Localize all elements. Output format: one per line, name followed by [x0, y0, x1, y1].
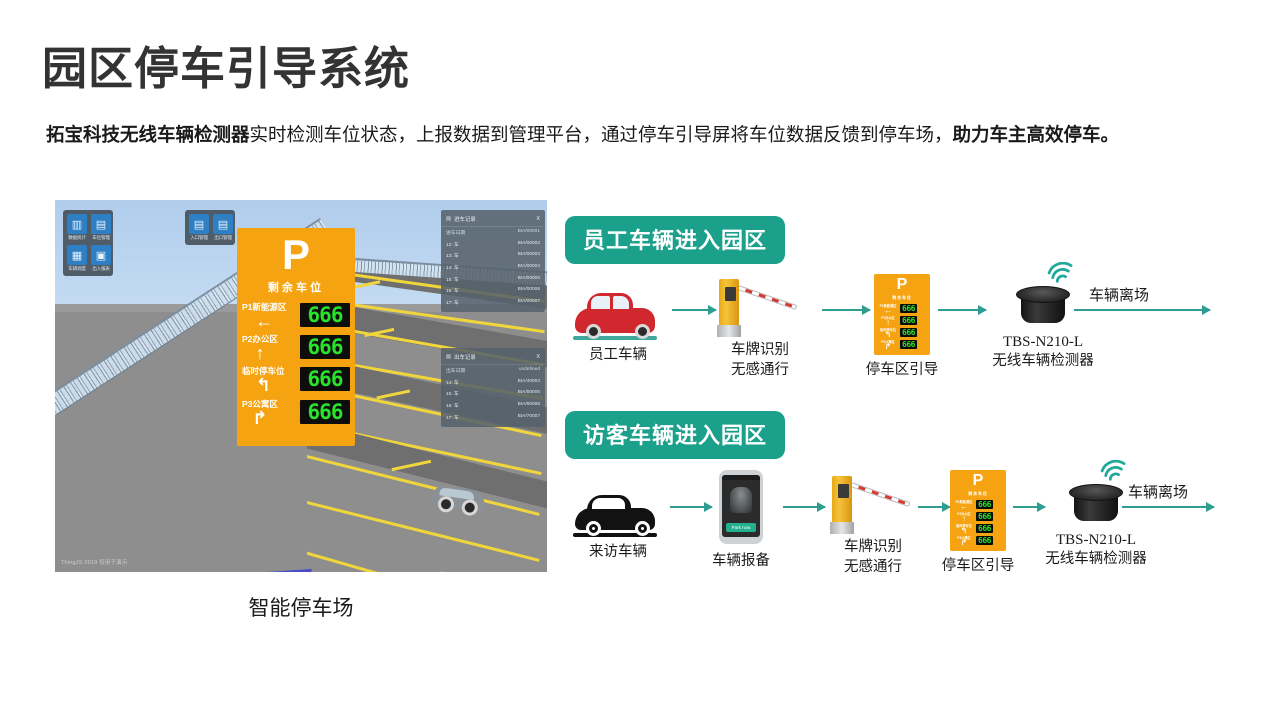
available-count: 666	[976, 536, 993, 545]
available-count: 666	[900, 316, 917, 325]
available-count: 666	[976, 512, 993, 521]
table-row: 14: 车BIA/40004	[441, 377, 545, 389]
table-row: 17: 车BIA/00007	[441, 297, 545, 309]
page-subtitle: 拓宝科技无线车辆检测器实时检测车位状态，上报数据到管理平台，通过停车引导屏将车位…	[46, 120, 1224, 152]
flow-node-employee-car: 员工车辆	[573, 280, 663, 366]
cell-left: 17: 车	[446, 299, 459, 306]
flow-node-label: 来访车辆	[573, 543, 663, 563]
mini-sign-row: 临时停车位 ↰ 666	[876, 327, 928, 338]
cell-right: BIA/50005	[518, 390, 540, 397]
direction-arrow-icon: ↑	[962, 516, 966, 522]
cell-right: BIA/00007	[518, 299, 540, 306]
phone-cta-button[interactable]: Park now	[726, 523, 756, 532]
table-row: 16: 车BIA/60006	[441, 400, 545, 412]
flow-node-visitor-gate: 车牌识别 无感通行	[818, 472, 928, 577]
wifi-glyph	[1047, 262, 1075, 284]
mini-sign-row: P3公寓区 ↱ 666	[876, 339, 928, 350]
hud-cell-label: 车辆调度	[68, 266, 86, 272]
flow-node-label: 车辆报备	[709, 552, 773, 572]
table-row: 12: 车BIA/00002	[441, 239, 545, 251]
black-car-icon	[573, 477, 663, 539]
mini-sign-zone-block: P2办公区 ↑	[954, 511, 974, 522]
mini-sign-zone-block: P2办公区 ↑	[878, 315, 898, 326]
subtitle-bold-1: 拓宝科技无线车辆检测器	[46, 125, 250, 146]
mini-sign-zone-block: 临时停车位 ↰	[878, 327, 898, 338]
hud-cell[interactable]: ▣ 出入报表	[91, 245, 111, 272]
flow-node-label-line1: TBS-N210-L	[1038, 530, 1154, 550]
mini-sign-zone-block: P1新能源区 ←	[954, 499, 974, 510]
subtitle-normal-1: 实时检测车位状态，上报数据到管理平台，通过停车引导屏将车位数据反馈到停车场，	[250, 125, 953, 146]
cell-right: BIA/00004	[518, 264, 540, 271]
hud-cell-label: 出口管理	[214, 235, 232, 241]
mini-sign-row: P1新能源区 ← 666	[952, 499, 1004, 510]
available-count: 666	[900, 304, 917, 313]
parking-sign-row: P3公寓区 ↱ 666	[242, 398, 350, 426]
available-count: 666	[300, 335, 350, 359]
direction-arrow-icon: ↑	[255, 345, 264, 361]
flow-badge-visitor: 访客车辆进入园区	[565, 411, 785, 459]
table-row: 16: 车BIA/00006	[441, 285, 545, 297]
hud-cell[interactable]: ▤ 出口管理	[213, 214, 233, 241]
mini-sign-row: 临时停车位 ↰ 666	[952, 523, 1004, 534]
table-row: 出车日期 undefined	[441, 365, 545, 377]
exit-icon[interactable]: ▤	[213, 214, 233, 234]
parking-sign-zone-block: P2办公区 ↑	[242, 333, 278, 361]
clipboard-icon[interactable]: ▤	[91, 214, 111, 234]
entry-record-panel[interactable]: ▤ 进车记录 X 进车日期 BIA/00001 12: 车BIA/00002 1…	[441, 210, 545, 312]
flow-arrow-1-exit	[1074, 309, 1210, 311]
exit-record-panel[interactable]: ▤ 出车记录 X 出车日期 undefined 14: 车BIA/40004 1…	[441, 348, 545, 427]
direction-arrow-icon: ↰	[256, 377, 271, 393]
hud-cell-label: 车位管理	[92, 235, 110, 241]
cell-right: BIA/00003	[518, 252, 540, 259]
hud-cell-label: 出入报表	[92, 266, 110, 272]
table-row: 15: 车BIA/50005	[441, 388, 545, 400]
flow-node-label-line1: 车牌识别	[705, 341, 815, 361]
flow-node-visitor-sign: P 剩余车位 P1新能源区 ← 666 P2办公区 ↑ 666 临时停车位	[950, 470, 1006, 577]
available-count: 666	[900, 340, 917, 349]
cell-right: BIA/00001	[518, 229, 540, 236]
scene-wifi-icon-2	[427, 570, 457, 572]
flow-node-label-line2: 无线车辆检测器	[985, 352, 1101, 372]
flow-arrow-2-3	[918, 506, 950, 508]
cell-right: BIA/60006	[518, 402, 540, 409]
cell-right: BIA/00005	[518, 276, 540, 283]
parking-guide-sign-icon: P 剩余车位 P1新能源区 ← 666 P2办公区 ↑ 666 临时停车位	[874, 274, 930, 355]
flow-node-label-line1: TBS-N210-L	[985, 332, 1101, 352]
mini-sign-title: 剩余车位	[892, 295, 912, 301]
exit-record-title-text: 出车记录	[454, 353, 476, 361]
flow-node-label-line2: 无感通行	[818, 558, 928, 578]
mini-sign-zone-block: 临时停车位 ↰	[954, 523, 974, 534]
list-icon: ▤	[446, 354, 451, 360]
flow-node-employee-gate: 车牌识别 无感通行	[705, 275, 815, 380]
flow-arrow-1-2	[822, 309, 870, 311]
car-icon[interactable]: ▦	[67, 245, 87, 265]
parking-sign-zone-block: 临时停车位 ↰	[242, 365, 285, 393]
exit-record-header: ▤ 出车记录 X	[441, 351, 545, 365]
scene-watermark: ThingJS 2019 仅用于演示	[61, 558, 128, 566]
wifi-signal-icon	[1100, 460, 1128, 486]
flow-node-label: 停车区引导	[854, 361, 950, 381]
hud-cell-label: 入口管理	[190, 235, 208, 241]
close-icon[interactable]: X	[536, 216, 540, 222]
scene-hud-left-panel[interactable]: ▥ 数据统计 ▤ 车位管理 ▦ 车辆调度 ▣ 出入报表	[63, 210, 113, 276]
flow-node-employee-detector: TBS-N210-L 无线车辆检测器	[985, 280, 1101, 372]
flow-arrow-1-3	[938, 309, 986, 311]
cell-right: BIA/70007	[518, 414, 540, 421]
flow-exit-label-1: 车辆离场	[1089, 284, 1149, 305]
barrier-gate-icon	[818, 472, 928, 538]
flow-node-label: 员工车辆	[573, 346, 663, 366]
table-row: 进车日期 BIA/00001	[441, 227, 545, 239]
mini-sign-row: P3公寓区 ↱ 666	[952, 535, 1004, 546]
parking-sign-rows: P1新能源区 ← 666 P2办公区 ↑ 666 临时停车位 ↰	[237, 301, 355, 426]
mini-sign-letter: P	[897, 277, 908, 293]
flow-node-label-line2: 无感通行	[705, 361, 815, 381]
flow-node-visitor-report: Park now 车辆报备	[709, 470, 773, 572]
red-car-icon	[573, 280, 663, 342]
table-row: 13: 车BIA/00003	[441, 250, 545, 262]
hud-cell[interactable]: ▤ 入口管理	[189, 214, 209, 241]
cell-left: 12: 车	[446, 241, 459, 248]
direction-arrow-icon: ↱	[961, 540, 968, 546]
scene-caption: 智能停车场	[55, 592, 547, 622]
parking-sign-letter: P	[282, 234, 310, 276]
scene-parking-guidance-sign: P 剩余车位 P1新能源区 ← 666 P2办公区 ↑ 666	[237, 228, 355, 446]
direction-arrow-icon: ←	[884, 308, 892, 314]
cell-right: BIA/00006	[518, 287, 540, 294]
mini-sign-row: P2办公区 ↑ 666	[876, 315, 928, 326]
exit-record-title: ▤ 出车记录	[446, 353, 476, 361]
mini-sign-row: P1新能源区 ← 666	[876, 303, 928, 314]
close-icon[interactable]: X	[536, 354, 540, 360]
mini-sign-zone-block: P3公寓区 ↱	[954, 535, 974, 546]
cell-left: 15: 车	[446, 276, 459, 283]
flow-exit-label-2: 车辆离场	[1128, 481, 1188, 502]
direction-arrow-icon: ↱	[885, 344, 892, 350]
hud-cell-label: 数据统计	[68, 235, 86, 241]
report-icon[interactable]: ▣	[91, 245, 111, 265]
direction-arrow-icon: ←	[255, 313, 273, 329]
cell-left: 17: 车	[446, 414, 459, 421]
entry-record-title: ▤ 进车记录	[446, 215, 476, 223]
table-row: 15: 车BIA/00005	[441, 273, 545, 285]
direction-arrow-icon: ↰	[885, 332, 892, 338]
list-icon: ▤	[446, 216, 451, 222]
flow-badge-employee: 员工车辆进入园区	[565, 216, 785, 264]
barrier-gate-icon	[705, 275, 815, 341]
parking-lot-scene: ➜ ▥ 数据统计 ▤ 车位管理 ▦ 车辆调度 ▣ 出入报表	[55, 200, 547, 572]
direction-arrow-icon: ↑	[886, 320, 890, 326]
flow-arrow-2-exit	[1122, 506, 1214, 508]
hud-cell[interactable]: ▤ 车位管理	[91, 214, 111, 241]
flow-node-label: 停车区引导	[930, 557, 1026, 577]
cell-left: 14: 车	[446, 264, 459, 271]
table-row: 14: 车BIA/00004	[441, 262, 545, 274]
mobile-phone-icon: Park now	[709, 470, 773, 546]
cell-left: 16: 车	[446, 402, 459, 409]
cell-left: 16: 车	[446, 287, 459, 294]
entry-record-header: ▤ 进车记录 X	[441, 213, 545, 227]
entry-record-title-text: 进车记录	[454, 215, 476, 223]
parking-sign-zone-block: P1新能源区 ←	[242, 301, 286, 329]
parking-sign-row: 临时停车位 ↰ 666	[242, 365, 350, 393]
flow-node-label-line2: 无线车辆检测器	[1038, 550, 1154, 570]
mini-sign-zone-block: P1新能源区 ←	[878, 303, 898, 314]
cell-right: undefined	[519, 367, 540, 374]
direction-arrow-icon: ←	[960, 504, 968, 510]
subtitle-bold-2: 助力车主高效停车。	[953, 125, 1120, 146]
cell-left: 15: 车	[446, 390, 459, 397]
parking-sign-title: 剩余车位	[268, 279, 324, 295]
mini-sign-zone-block: P3公寓区 ↱	[878, 339, 898, 350]
chart-icon[interactable]: ▥	[67, 214, 87, 234]
page-title: 园区停车引导系统	[42, 44, 410, 94]
available-count: 666	[300, 303, 350, 327]
flow-arrow-2-1	[670, 506, 712, 508]
direction-arrow-icon: ↰	[961, 528, 968, 534]
scene-hud-mid-panel[interactable]: ▤ 入口管理 ▤ 出口管理	[185, 210, 235, 245]
available-count: 666	[300, 400, 350, 424]
parking-guide-sign-icon: P 剩余车位 P1新能源区 ← 666 P2办公区 ↑ 666 临时停车位	[950, 470, 1006, 551]
wifi-signal-icon	[1047, 262, 1075, 288]
wifi-glyph	[1100, 460, 1128, 482]
available-count: 666	[900, 328, 917, 337]
mini-sign-title: 剩余车位	[968, 491, 988, 497]
wifi-glyph	[427, 570, 457, 572]
slide-root: 园区停车引导系统 拓宝科技无线车辆检测器实时检测车位状态，上报数据到管理平台，通…	[0, 0, 1280, 717]
table-row: 17: 车BIA/70007	[441, 411, 545, 423]
entry-icon[interactable]: ▤	[189, 214, 209, 234]
mini-sign-row: P2办公区 ↑ 666	[952, 511, 1004, 522]
hud-cell[interactable]: ▥ 数据统计	[67, 214, 87, 241]
available-count: 666	[976, 500, 993, 509]
cell-right: BIA/00002	[518, 241, 540, 248]
hud-button-grid: ▥ 数据统计 ▤ 车位管理 ▦ 车辆调度 ▣ 出入报表	[67, 214, 109, 272]
hud-button-grid: ▤ 入口管理 ▤ 出口管理	[189, 214, 231, 241]
available-count: 666	[300, 367, 350, 391]
cell-left: 进车日期	[446, 229, 465, 236]
available-count: 666	[976, 524, 993, 533]
flow-node-label-line1: 车牌识别	[818, 538, 928, 558]
flow-node-employee-sign: P 剩余车位 P1新能源区 ← 666 P2办公区 ↑ 666 临时停车位	[874, 274, 930, 381]
parking-sign-zone-block: P3公寓区 ↱	[242, 398, 278, 426]
mini-sign-letter: P	[973, 473, 984, 489]
cell-right: BIA/40004	[518, 379, 540, 386]
parking-sign-row: P1新能源区 ← 666	[242, 301, 350, 329]
flow-node-visitor-car: 来访车辆	[573, 477, 663, 563]
cell-left: 14: 车	[446, 379, 459, 386]
hud-cell[interactable]: ▦ 车辆调度	[67, 245, 87, 272]
parking-sign-row: P2办公区 ↑ 666	[242, 333, 350, 361]
cell-left: 出车日期	[446, 367, 465, 374]
direction-arrow-icon: ↱	[252, 410, 267, 426]
cell-left: 13: 车	[446, 252, 459, 259]
